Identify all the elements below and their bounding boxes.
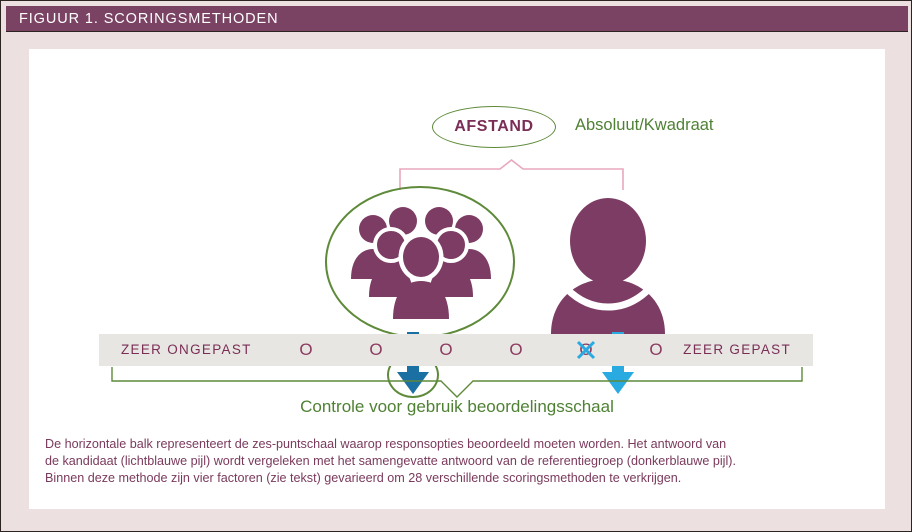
caption-line-1: De horizontale balk representeert de zes… — [45, 436, 873, 453]
group-of-people-icon — [351, 207, 491, 320]
afstand-variant-label: Absoluut/Kwadraat — [575, 116, 714, 135]
figure-caption: De horizontale balk representeert de zes… — [45, 436, 873, 487]
scale-left-label: ZEER ONGEPAST — [121, 334, 252, 366]
afstand-label: AFSTAND — [454, 118, 533, 136]
rating-scale-bar: ZEER ONGEPAST O O O O O O ZEER GEPAST — [99, 334, 813, 366]
control-label: Controle voor gebruik beoordelingsschaal — [29, 397, 885, 417]
scale-option-1[interactable]: O — [295, 334, 317, 366]
scale-option-3[interactable]: O — [435, 334, 457, 366]
scale-option-6[interactable]: O — [645, 334, 667, 366]
figure-container: FIGUUR 1. SCORINGSMETHODEN AFSTAND Absol… — [0, 0, 912, 532]
caption-line-3: Binnen deze methode zijn vier factoren (… — [45, 470, 873, 487]
afstand-pill: AFSTAND — [432, 106, 556, 148]
scale-option-2[interactable]: O — [365, 334, 387, 366]
scale-right-label: ZEER GEPAST — [683, 334, 791, 366]
figure-header-bar: FIGUUR 1. SCORINGSMETHODEN — [6, 6, 908, 32]
caption-line-2: de kandidaat (lichtblauwe pijl) wordt ve… — [45, 453, 873, 470]
single-person-icon — [547, 197, 669, 334]
figure-canvas: AFSTAND Absoluut/Kwadraat — [29, 49, 885, 509]
blue-x-marker-icon — [575, 339, 597, 361]
green-bracket-connector — [111, 367, 803, 399]
scale-option-4[interactable]: O — [505, 334, 527, 366]
figure-title: FIGUUR 1. SCORINGSMETHODEN — [6, 11, 278, 27]
